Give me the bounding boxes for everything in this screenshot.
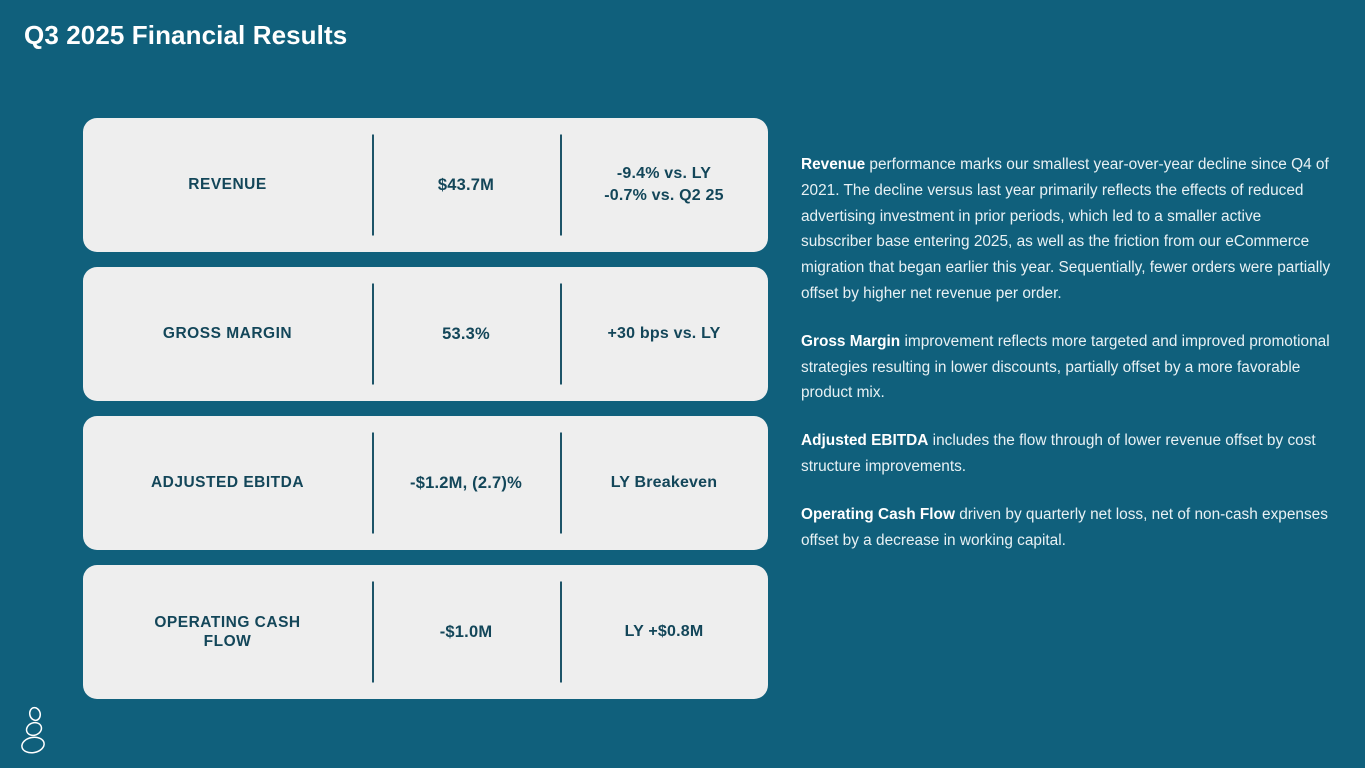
stacked-stones-icon bbox=[14, 704, 56, 756]
commentary-panel: Revenue performance marks our smallest y… bbox=[801, 152, 1331, 553]
metric-card-gross-margin: GROSS MARGIN 53.3% +30 bps vs. LY bbox=[83, 267, 768, 401]
commentary-heading-revenue: Revenue bbox=[801, 156, 865, 173]
metric-compare-line-2: -0.7% vs. Q2 25 bbox=[604, 185, 724, 207]
metric-value-revenue: $43.7M bbox=[372, 118, 560, 252]
metric-label-gross-margin: GROSS MARGIN bbox=[83, 267, 372, 401]
commentary-paragraph-operating-cash-flow: Operating Cash Flow driven by quarterly … bbox=[801, 502, 1331, 554]
metrics-card-list: REVENUE $43.7M -9.4% vs. LY -0.7% vs. Q2… bbox=[83, 118, 768, 699]
commentary-body-revenue: performance marks our smallest year-over… bbox=[801, 156, 1330, 302]
page-title: Q3 2025 Financial Results bbox=[24, 20, 347, 51]
metric-compare-adjusted-ebitda: LY Breakeven bbox=[560, 416, 768, 550]
metric-label-adjusted-ebitda: ADJUSTED EBITDA bbox=[83, 416, 372, 550]
commentary-paragraph-gross-margin: Gross Margin improvement reflects more t… bbox=[801, 329, 1331, 406]
metric-compare-revenue: -9.4% vs. LY -0.7% vs. Q2 25 bbox=[560, 118, 768, 252]
metric-card-operating-cash-flow: OPERATING CASH FLOW -$1.0M LY +$0.8M bbox=[83, 565, 768, 699]
slide-root: Q3 2025 Financial Results REVENUE $43.7M… bbox=[0, 0, 1365, 768]
metric-compare-operating-cash-flow: LY +$0.8M bbox=[560, 565, 768, 699]
metric-value-gross-margin: 53.3% bbox=[372, 267, 560, 401]
commentary-heading-gross-margin: Gross Margin bbox=[801, 333, 900, 350]
metric-compare-line-1: -9.4% vs. LY bbox=[604, 163, 724, 185]
commentary-heading-adjusted-ebitda: Adjusted EBITDA bbox=[801, 432, 928, 449]
metric-compare-gross-margin: +30 bps vs. LY bbox=[560, 267, 768, 401]
metric-label-line-1: OPERATING CASH bbox=[154, 613, 300, 632]
metric-card-revenue: REVENUE $43.7M -9.4% vs. LY -0.7% vs. Q2… bbox=[83, 118, 768, 252]
metric-value-adjusted-ebitda: -$1.2M, (2.7)% bbox=[372, 416, 560, 550]
metric-label-revenue: REVENUE bbox=[83, 118, 372, 252]
metric-card-adjusted-ebitda: ADJUSTED EBITDA -$1.2M, (2.7)% LY Breake… bbox=[83, 416, 768, 550]
metric-value-operating-cash-flow: -$1.0M bbox=[372, 565, 560, 699]
metric-label-line-2: FLOW bbox=[154, 632, 300, 651]
stacked-stones-cairn-logo bbox=[14, 704, 56, 756]
commentary-paragraph-revenue: Revenue performance marks our smallest y… bbox=[801, 152, 1331, 307]
metric-label-operating-cash-flow: OPERATING CASH FLOW bbox=[83, 565, 372, 699]
commentary-heading-operating-cash-flow: Operating Cash Flow bbox=[801, 506, 955, 523]
commentary-paragraph-adjusted-ebitda: Adjusted EBITDA includes the flow throug… bbox=[801, 428, 1331, 480]
